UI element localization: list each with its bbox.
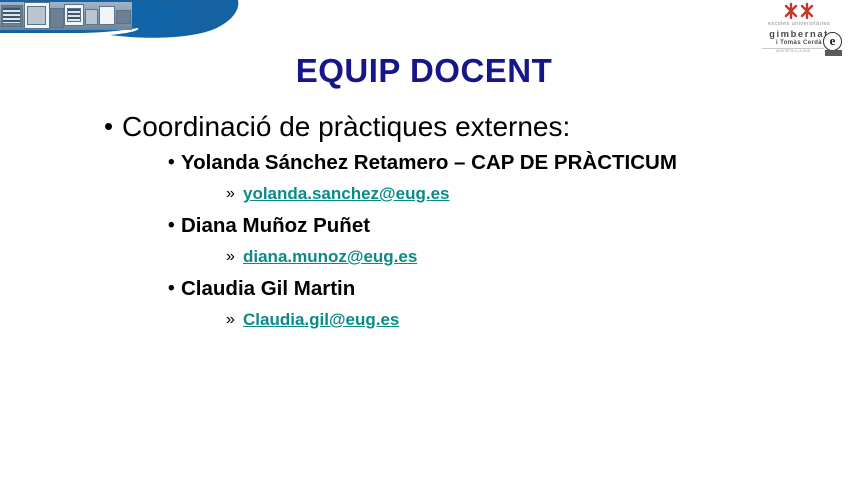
bullet-level2: • Diana Muñoz Puñet — [0, 210, 848, 241]
slide-body: • Coordinació de pràctiques externes: • … — [0, 110, 848, 336]
bullet-level2: • Claudia Gil Martin — [0, 273, 848, 304]
person-name: Claudia Gil Martin — [181, 277, 355, 300]
banner-building-photo — [0, 2, 132, 30]
bullet-marker-icon: • — [168, 273, 175, 304]
page-title: EQUIP DOCENT — [0, 52, 848, 90]
bullet-level2: • Yolanda Sánchez Retamero – CAP DE PRÀC… — [0, 147, 848, 178]
guillemet-marker-icon: » — [226, 305, 235, 335]
email-link[interactable]: Claudia.gil@eug.es — [243, 310, 399, 329]
guillemet-marker-icon: » — [226, 179, 235, 209]
person-name: Diana Muñoz Puñet — [181, 214, 370, 237]
logo-mark-icon — [782, 2, 816, 22]
bullet-level3: » Claudia.gil@eug.es — [0, 305, 848, 335]
header-banner — [0, 0, 260, 46]
email-link[interactable]: yolanda.sanchez@eug.es — [243, 184, 449, 203]
person-name: Yolanda Sánchez Retamero – CAP DE PRÀCTI… — [181, 151, 677, 174]
institution-logo: escoles universitàries gimbernat i Tomàs… — [756, 2, 842, 56]
bullet-level3: » yolanda.sanchez@eug.es — [0, 179, 848, 209]
bullet-marker-icon: • — [168, 210, 175, 241]
logo-line-1: escoles universitàries — [756, 21, 842, 28]
bullet-level3: » diana.munoz@eug.es — [0, 242, 848, 272]
bullet-marker-icon: • — [104, 109, 113, 143]
guillemet-marker-icon: » — [226, 242, 235, 272]
bullet-level1: • Coordinació de pràctiques externes: — [0, 110, 848, 144]
bullet-level1-label: Coordinació de pràctiques externes: — [122, 111, 570, 142]
email-link[interactable]: diana.munoz@eug.es — [243, 247, 417, 266]
logo-e-emblem-icon: e — [823, 32, 842, 51]
bullet-marker-icon: • — [168, 147, 175, 178]
